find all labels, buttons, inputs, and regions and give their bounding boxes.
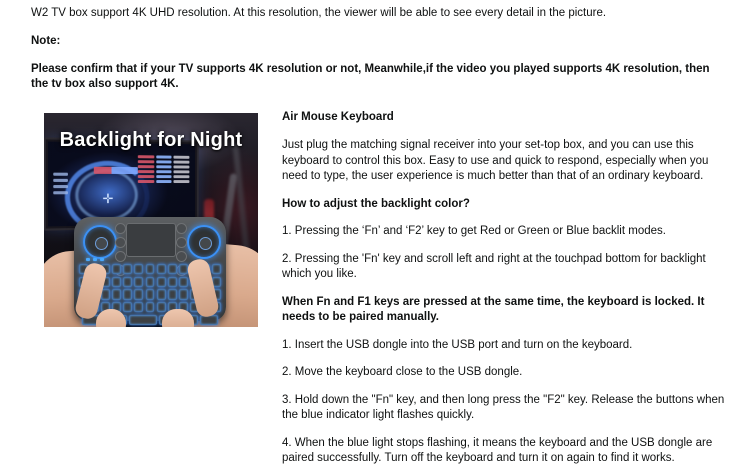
right-fingers — [162, 309, 194, 327]
section-intro-paragraph: Just plug the matching signal receiver i… — [282, 138, 730, 185]
backlight-heading: How to adjust the backlight color? — [282, 197, 730, 213]
spacer — [31, 49, 721, 62]
section-heading: Air Mouse Keyboard — [282, 110, 730, 125]
intro-paragraph: W2 TV box support 4K UHD resolution. At … — [31, 6, 721, 21]
pairing-step-2: 2. Move the keyboard close to the USB do… — [282, 365, 730, 381]
spacer — [282, 424, 730, 436]
product-photo: ✛ Backlight for Night — [44, 113, 258, 327]
spacer — [282, 240, 730, 252]
photo-caption: Backlight for Night — [44, 129, 258, 152]
monitor-screen: ✛ — [48, 142, 195, 227]
pairing-step-4: 4. When the blue light stops flashing, i… — [282, 436, 730, 467]
spacer — [282, 353, 730, 365]
right-dpad-icon — [187, 225, 221, 259]
intro-block: W2 TV box support 4K UHD resolution. At … — [31, 6, 721, 92]
spacer — [282, 125, 730, 138]
crosshair-icon: ✛ — [102, 193, 114, 205]
product-image-column: ✛ Backlight for Night — [44, 113, 258, 327]
pairing-heading: When Fn and F1 keys are pressed at the s… — [282, 295, 730, 326]
spacer — [282, 381, 730, 393]
left-dpad-icon — [83, 225, 117, 259]
indicator-leds — [86, 258, 110, 261]
game-hud-bar — [94, 167, 138, 174]
note-label: Note: — [31, 34, 721, 49]
spacer — [282, 185, 730, 197]
note-body: Please confirm that if your TV supports … — [31, 62, 721, 92]
spacer — [282, 326, 730, 338]
backlight-step-2: 2. Pressing the 'Fn' key and scroll left… — [282, 252, 730, 283]
game-hud-grid — [138, 155, 190, 183]
pairing-step-3: 3. Hold down the "Fn" key, and then long… — [282, 393, 730, 424]
description-column: Air Mouse Keyboard Just plug the matchin… — [282, 110, 730, 467]
touchpad — [126, 223, 176, 257]
game-hud-left — [53, 173, 68, 198]
spacer — [282, 283, 730, 295]
backlight-step-1: 1. Pressing the ‘Fn’ and ‘F2’ key to get… — [282, 224, 730, 240]
spacer — [282, 212, 730, 224]
spacer — [31, 21, 721, 34]
pairing-step-1: 1. Insert the USB dongle into the USB po… — [282, 338, 730, 354]
